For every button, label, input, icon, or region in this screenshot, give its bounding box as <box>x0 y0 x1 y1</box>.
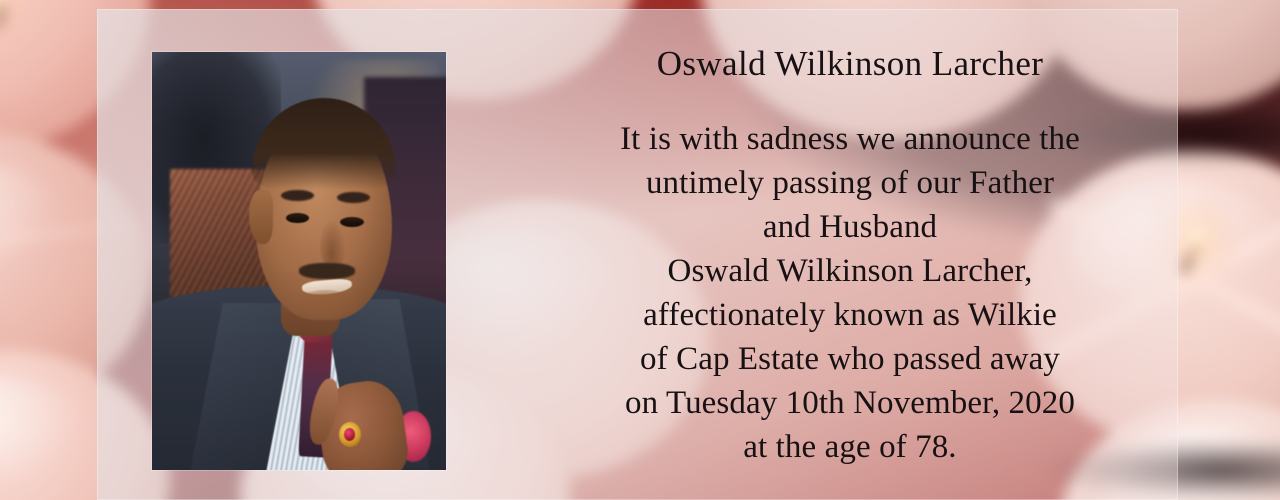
memorial-card: Oswald Wilkinson Larcher It is with sadn… <box>0 0 1280 500</box>
candle-flame-far-right <box>1192 228 1202 254</box>
portrait-photo <box>152 52 446 470</box>
message-line: and Husband <box>620 205 1080 249</box>
message-line: at the age of 78. <box>620 425 1080 469</box>
message-line: of Cap Estate who passed away <box>620 337 1080 381</box>
message-line: Oswald Wilkinson Larcher, <box>620 249 1080 293</box>
message-line: affectionately known as Wilkie <box>620 293 1080 337</box>
message-line: It is with sadness we announce the <box>620 117 1080 161</box>
message-line: on Tuesday 10th November, 2020 <box>620 381 1080 425</box>
message-line: untimely passing of our Father <box>620 161 1080 205</box>
memorial-text-column: Oswald Wilkinson Larcher It is with sadn… <box>520 0 1180 500</box>
photo-soft-focus <box>152 52 446 470</box>
photo-content <box>152 52 446 470</box>
memorial-message: It is with sadness we announce the untim… <box>620 117 1080 469</box>
page-title: Oswald Wilkinson Larcher <box>657 45 1044 84</box>
